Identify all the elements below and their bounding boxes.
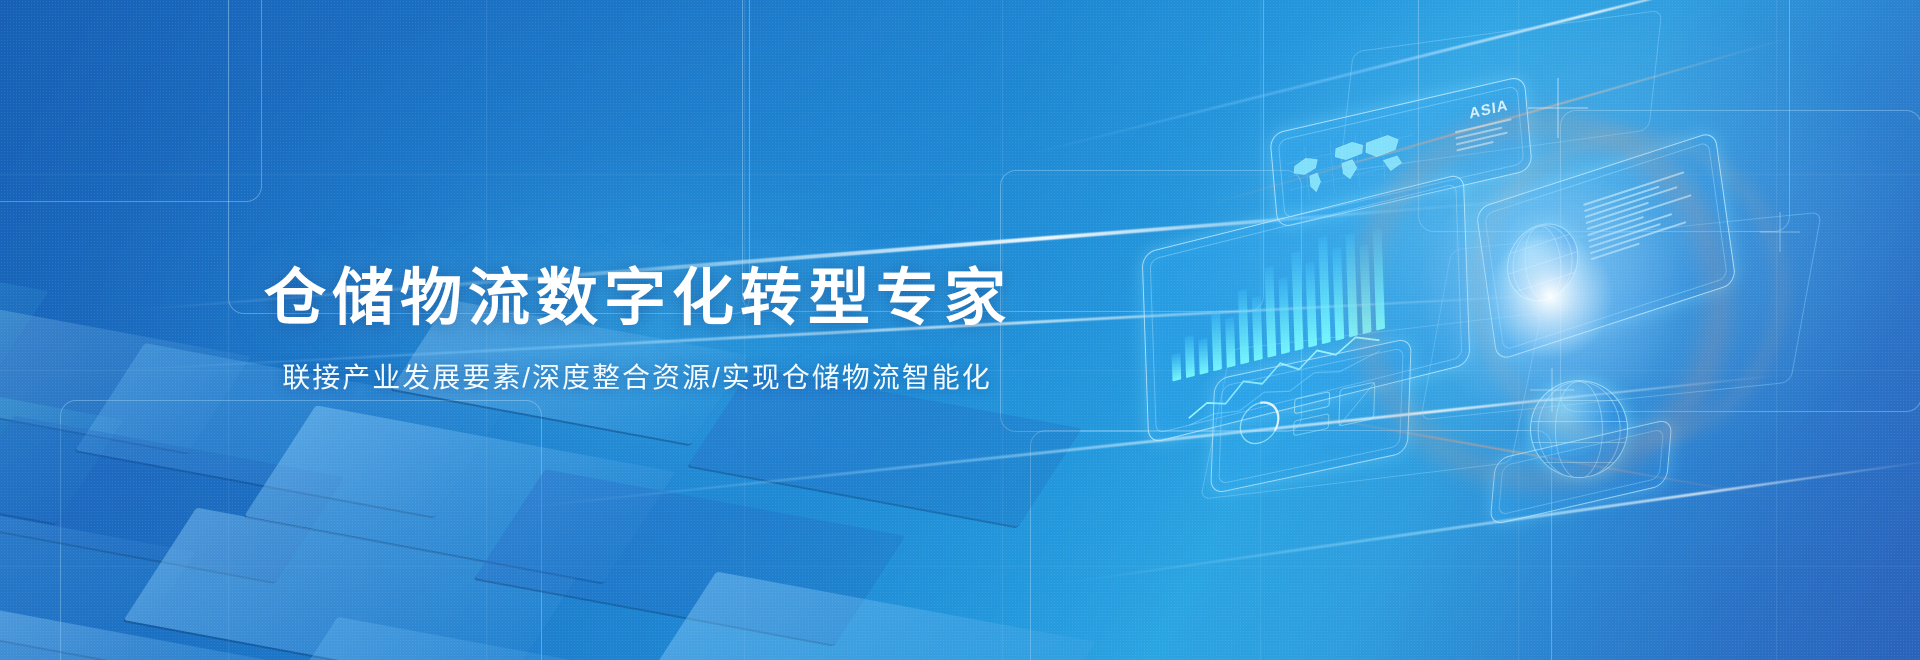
banner-copy: 仓储物流数字化转型专家 联接产业发展要素/深度整合资源/实现仓储物流智能化 [0, 0, 1270, 660]
lens-flare-ring-outer [1470, 130, 1788, 448]
page-title: 仓储物流数字化转型专家 [258, 268, 1012, 330]
sparkle-icon-2 [1530, 368, 1574, 412]
sparkle-icon-3 [1760, 212, 1800, 252]
hero-banner: ASIA [0, 0, 1920, 660]
page-subtitle: 联接产业发展要素/深度整合资源/实现仓储物流智能化 [278, 364, 992, 392]
sparkle-icon-1 [1528, 78, 1588, 138]
